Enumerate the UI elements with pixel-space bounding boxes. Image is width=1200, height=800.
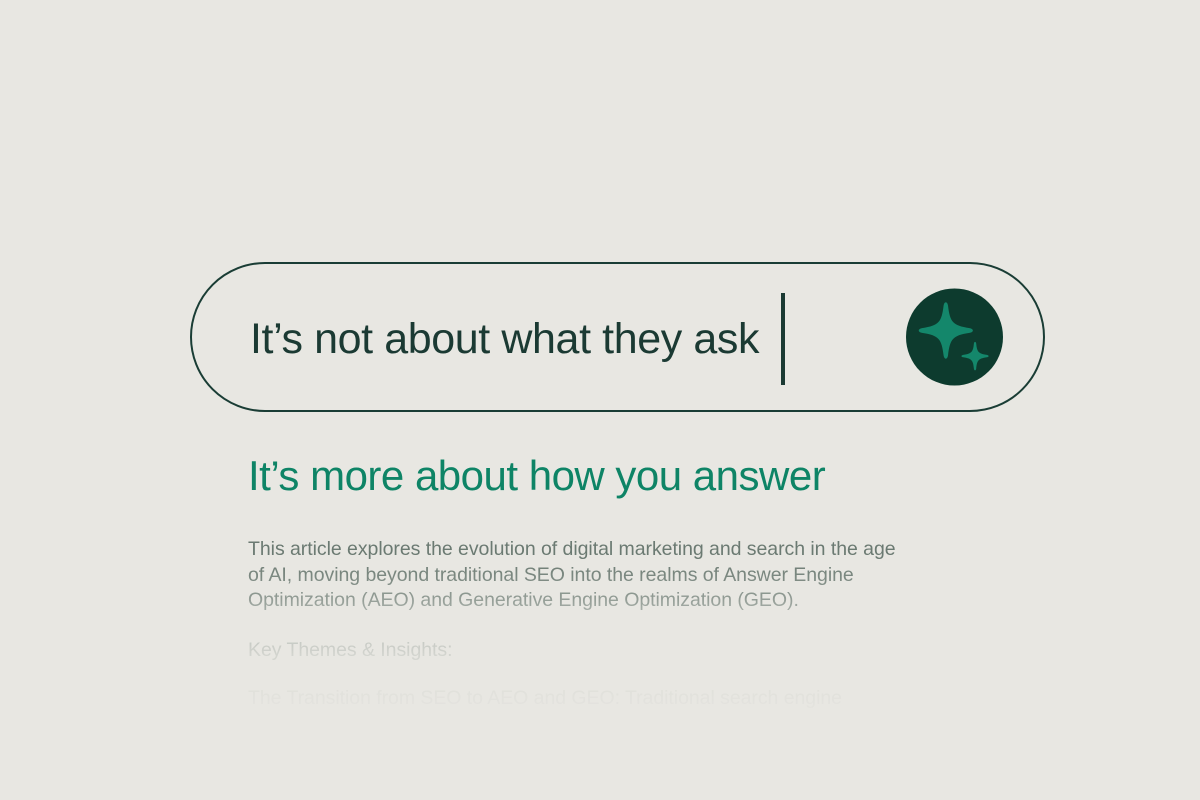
article-content: It’s more about how you answer This arti… — [248, 452, 928, 712]
search-bar[interactable]: It’s not about what they ask — [190, 262, 1045, 412]
key-themes-first-line: The Transition from SEO to AEO and GEO: … — [248, 686, 948, 712]
key-themes-heading: Key Themes & Insights: — [248, 638, 928, 664]
article-headline: It’s more about how you answer — [248, 452, 928, 499]
search-query-text: It’s not about what they ask — [250, 318, 759, 361]
article-summary: This article explores the evolution of d… — [248, 537, 908, 614]
fading-article-preview: This article explores the evolution of d… — [248, 537, 928, 712]
hero-canvas: It’s not about what they ask It’s more a… — [0, 0, 1200, 800]
search-input[interactable]: It’s not about what they ask — [250, 264, 785, 414]
text-caret — [781, 293, 785, 385]
sparkle-icon[interactable] — [906, 289, 1003, 386]
